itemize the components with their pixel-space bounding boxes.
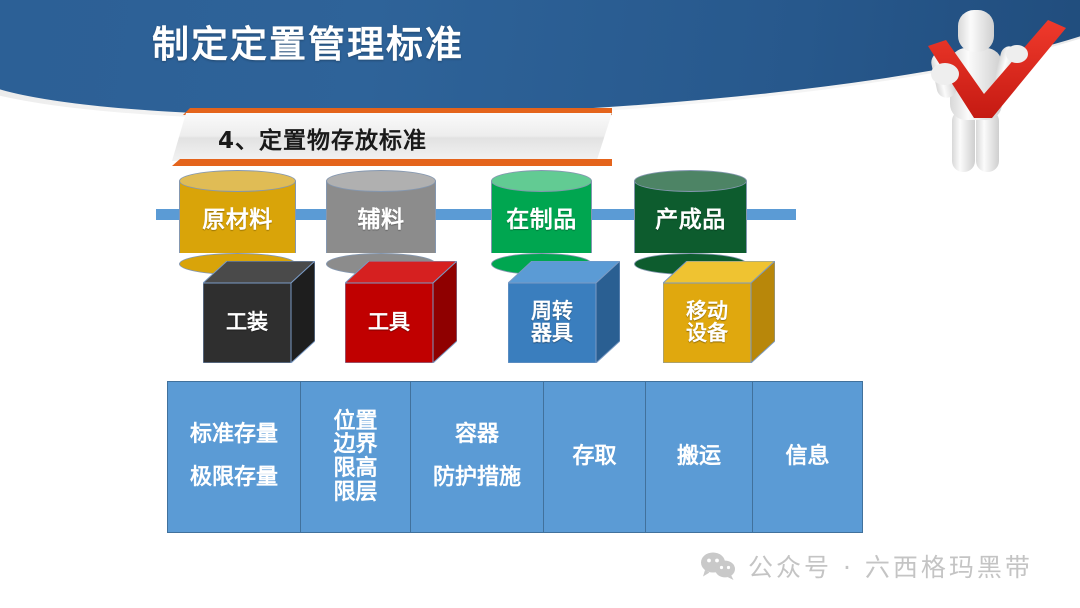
section-banner-label: 4、定置物存放标准	[218, 121, 427, 155]
table-cell-access[interactable]: 存取	[544, 382, 646, 532]
table-cell-line: 限高	[333, 457, 377, 481]
cube-label-line: 周转	[531, 301, 573, 323]
standards-table: 标准存量极限存量位置边界限高限层容器防护措施存取搬运信息	[167, 381, 863, 533]
cube-tools[interactable]: 工具	[345, 261, 457, 363]
table-cell-line: 边界	[333, 433, 377, 457]
banner-bottom-bar	[172, 159, 612, 166]
cube-turnover-appliance[interactable]: 周转器具	[508, 261, 620, 363]
table-cell-line: 存取	[572, 444, 616, 471]
slide-root: 制定定置管理标准	[0, 0, 1080, 608]
watermark-text: 公众号 · 六西格玛黑带	[748, 548, 1033, 584]
cylinder-label: 原材料	[179, 200, 296, 234]
cylinder-raw-material[interactable]: 原材料	[179, 170, 296, 264]
table-cell-line: 标准存量	[190, 422, 278, 449]
table-cell-container-protection[interactable]: 容器防护措施	[411, 382, 544, 532]
table-cell-position-boundary[interactable]: 位置边界限高限层	[301, 382, 411, 532]
table-cell-line: 位置	[333, 410, 377, 434]
cube-label-line: 移动	[686, 301, 728, 323]
cylinder-label: 产成品	[634, 200, 747, 234]
mascot-figure	[900, 2, 1070, 192]
page-title: 制定定置管理标准	[152, 14, 464, 68]
cylinder-work-in-process[interactable]: 在制品	[491, 170, 592, 264]
wechat-icon	[700, 551, 736, 581]
table-cell-handling[interactable]: 搬运	[646, 382, 753, 532]
figure-with-checkmark-icon	[900, 2, 1070, 192]
table-cell-line: 极限存量	[190, 465, 278, 492]
table-cell-line: 信息	[785, 444, 829, 471]
table-cell-line: 防护措施	[433, 465, 521, 492]
cylinder-top	[179, 170, 296, 192]
table-cell-line: 限层	[333, 481, 377, 505]
cube-mobile-equipment[interactable]: 移动设备	[663, 261, 775, 363]
cube-label-line: 器具	[531, 323, 573, 345]
table-cell-line: 搬运	[677, 444, 721, 471]
cube-label: 周转器具	[508, 283, 596, 363]
cube-label-line: 工具	[368, 312, 410, 334]
table-cell-information[interactable]: 信息	[753, 382, 862, 532]
cube-label-line: 设备	[686, 323, 728, 345]
table-cell-inventory-level[interactable]: 标准存量极限存量	[168, 382, 301, 532]
cylinder-finished-goods[interactable]: 产成品	[634, 170, 747, 264]
table-cell-line: 容器	[455, 422, 499, 449]
cube-label: 工装	[203, 283, 291, 363]
cylinder-top	[491, 170, 592, 192]
section-banner: 4、定置物存放标准	[172, 108, 612, 166]
cube-label-line: 工装	[226, 312, 268, 334]
cylinder-label: 辅料	[326, 200, 436, 234]
cylinder-top	[326, 170, 436, 192]
cylinder-top	[634, 170, 747, 192]
watermark: 公众号 · 六西格玛黑带	[700, 548, 1033, 584]
cube-label: 工具	[345, 283, 433, 363]
cube-tooling[interactable]: 工装	[203, 261, 315, 363]
cube-label: 移动设备	[663, 283, 751, 363]
cylinder-auxiliary-material[interactable]: 辅料	[326, 170, 436, 264]
cylinder-label: 在制品	[491, 200, 592, 234]
